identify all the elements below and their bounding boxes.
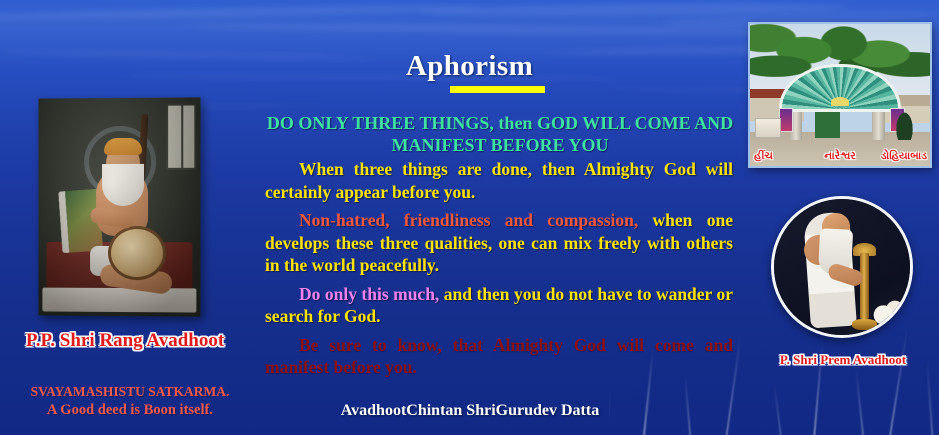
prem-avadhoot-image bbox=[771, 196, 913, 338]
paragraph-1: When three things are done, then Almight… bbox=[265, 158, 733, 203]
footer-text: AvadhootChintan ShriGurudev Datta bbox=[270, 402, 670, 420]
arch-label-right: ડોહિયાબાડ bbox=[881, 150, 927, 163]
paragraph-3: Do only this much, and then you do not h… bbox=[265, 283, 733, 328]
run-highlight-violet: Do only this much, bbox=[299, 284, 439, 304]
saint-portrait-image bbox=[38, 97, 200, 316]
arch-label-center: નારેશ્વર bbox=[824, 150, 856, 163]
paragraph-2: Non-hatred, friendliness and compassion,… bbox=[265, 209, 733, 277]
paragraph-4: Be sure to know, that Almighty God will … bbox=[265, 334, 733, 379]
arch-label-left: હીંચ bbox=[754, 150, 773, 163]
motto-block: SVAYAMASHISTU SATKARMA. A Good deed is B… bbox=[0, 382, 260, 420]
poster-canvas: Aphorism DO ONLY THREE THINGS, then GOD … bbox=[0, 0, 939, 435]
prem-avadhoot-caption: P. Shri Prem Avadhoot bbox=[748, 352, 938, 368]
temple-arch-image: હીંચ નારેશ્વર ડોહિયાબાડ bbox=[748, 22, 932, 168]
motto-line-1: SVAYAMASHISTU SATKARMA. bbox=[0, 382, 260, 401]
saint-portrait-caption: P.P. Shri Rang Avadhoot bbox=[0, 330, 250, 352]
lamp-stem bbox=[860, 253, 870, 318]
run-text: When three things are done, then Almight… bbox=[265, 159, 733, 202]
run-text: Be sure to know, that Almighty God will … bbox=[265, 335, 733, 378]
run-highlight-red: Non-hatred, friendliness and compassion, bbox=[299, 210, 638, 230]
title-underline bbox=[450, 86, 545, 93]
aphorism-body: When three things are done, then Almight… bbox=[265, 158, 733, 379]
subheading: DO ONLY THREE THINGS, then GOD WILL COME… bbox=[250, 112, 750, 156]
motto-line-2: A Good deed is Boon itself. bbox=[0, 401, 260, 420]
